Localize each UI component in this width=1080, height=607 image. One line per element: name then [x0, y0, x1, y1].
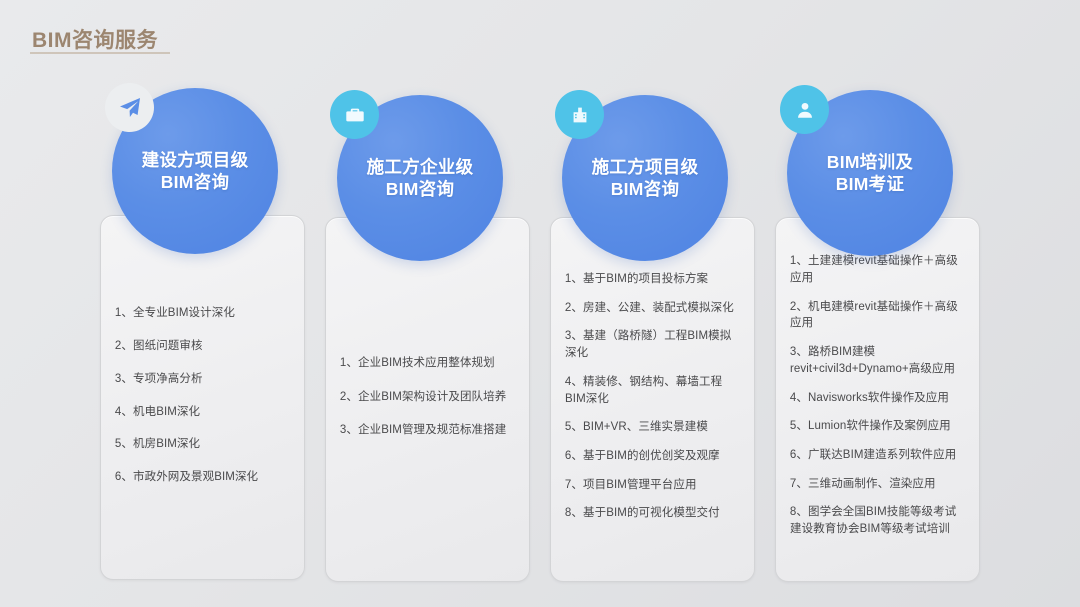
building-icon-badge: [555, 90, 604, 139]
list-item: 2、房建、公建、装配式模拟深化: [565, 300, 740, 317]
list-item: 4、机电BIM深化: [115, 404, 290, 421]
bubble-title-1: 建设方项目级 BIM咨询: [132, 149, 259, 194]
service-card-3: 1、基于BIM的项目投标方案 2、房建、公建、装配式模拟深化 3、基建（路桥隧）…: [550, 217, 755, 582]
service-list-1: 1、全专业BIM设计深化 2、图纸问题审核 3、专项净高分析 4、机电BIM深化…: [115, 246, 290, 561]
list-item: 1、企业BIM技术应用整体规划: [340, 355, 515, 372]
list-item: 6、基于BIM的创优创奖及观摩: [565, 448, 740, 465]
user-icon-badge: [780, 85, 829, 134]
list-item: 7、三维动画制作、渲染应用: [790, 476, 965, 493]
list-item: 3、路桥BIM建模revit+civil3d+Dynamo+高级应用: [790, 344, 965, 377]
list-item: 3、专项净高分析: [115, 371, 290, 388]
building-icon: [569, 104, 591, 126]
list-item: 6、广联达BIM建造系列软件应用: [790, 447, 965, 464]
user-icon: [794, 99, 816, 121]
list-item: 1、基于BIM的项目投标方案: [565, 271, 740, 288]
list-item: 6、市政外网及景观BIM深化: [115, 469, 290, 486]
service-list-4: 1、土建建模revit基础操作＋高级应用 2、机电建模revit基础操作＋高级应…: [790, 240, 965, 563]
service-list-3: 1、基于BIM的项目投标方案 2、房建、公建、装配式模拟深化 3、基建（路桥隧）…: [565, 242, 740, 563]
service-column-2: 施工方企业级 BIM咨询 1、企业BIM技术应用整体规划 2、企业BIM架构设计…: [315, 0, 540, 607]
list-item: 4、Navisworks软件操作及应用: [790, 390, 965, 407]
list-item: 3、企业BIM管理及规范标准搭建: [340, 422, 515, 439]
paper-plane-icon: [118, 96, 142, 120]
bubble-title-2: 施工方企业级 BIM咨询: [357, 156, 484, 201]
bubble-title-3: 施工方项目级 BIM咨询: [582, 156, 709, 201]
service-column-4: BIM培训及 BIM考证 1、土建建模revit基础操作＋高级应用 2、机电建模…: [765, 0, 990, 607]
list-item: 5、BIM+VR、三维实景建模: [565, 419, 740, 436]
list-item: 2、机电建模revit基础操作＋高级应用: [790, 299, 965, 332]
list-item: 3、基建（路桥隧）工程BIM模拟深化: [565, 328, 740, 361]
service-column-1: 建设方项目级 BIM咨询 1、全专业BIM设计深化 2、图纸问题审核 3、专项净…: [90, 0, 315, 607]
list-item: 5、Lumion软件操作及案例应用: [790, 418, 965, 435]
briefcase-icon: [344, 104, 366, 126]
service-list-2: 1、企业BIM技术应用整体规划 2、企业BIM架构设计及团队培养 3、企业BIM…: [340, 248, 515, 563]
list-item: 5、机房BIM深化: [115, 436, 290, 453]
list-item: 7、项目BIM管理平台应用: [565, 477, 740, 494]
service-card-2: 1、企业BIM技术应用整体规划 2、企业BIM架构设计及团队培养 3、企业BIM…: [325, 217, 530, 582]
service-column-3: 施工方项目级 BIM咨询 1、基于BIM的项目投标方案 2、房建、公建、装配式模…: [540, 0, 765, 607]
service-card-1: 1、全专业BIM设计深化 2、图纸问题审核 3、专项净高分析 4、机电BIM深化…: [100, 215, 305, 580]
list-item: 1、全专业BIM设计深化: [115, 305, 290, 322]
list-item: 4、精装修、钢结构、幕墙工程BIM深化: [565, 374, 740, 407]
service-columns: 建设方项目级 BIM咨询 1、全专业BIM设计深化 2、图纸问题审核 3、专项净…: [0, 0, 1080, 607]
paper-plane-icon-badge: [105, 83, 154, 132]
list-item: 1、土建建模revit基础操作＋高级应用: [790, 253, 965, 286]
bubble-title-4: BIM培训及 BIM考证: [817, 151, 923, 196]
list-item: 2、企业BIM架构设计及团队培养: [340, 389, 515, 406]
list-item: 8、基于BIM的可视化模型交付: [565, 505, 740, 522]
service-card-4: 1、土建建模revit基础操作＋高级应用 2、机电建模revit基础操作＋高级应…: [775, 217, 980, 582]
briefcase-icon-badge: [330, 90, 379, 139]
list-item: 8、图学会全国BIM技能等级考试建设教育协会BIM等级考试培训: [790, 504, 965, 537]
list-item: 2、图纸问题审核: [115, 338, 290, 355]
